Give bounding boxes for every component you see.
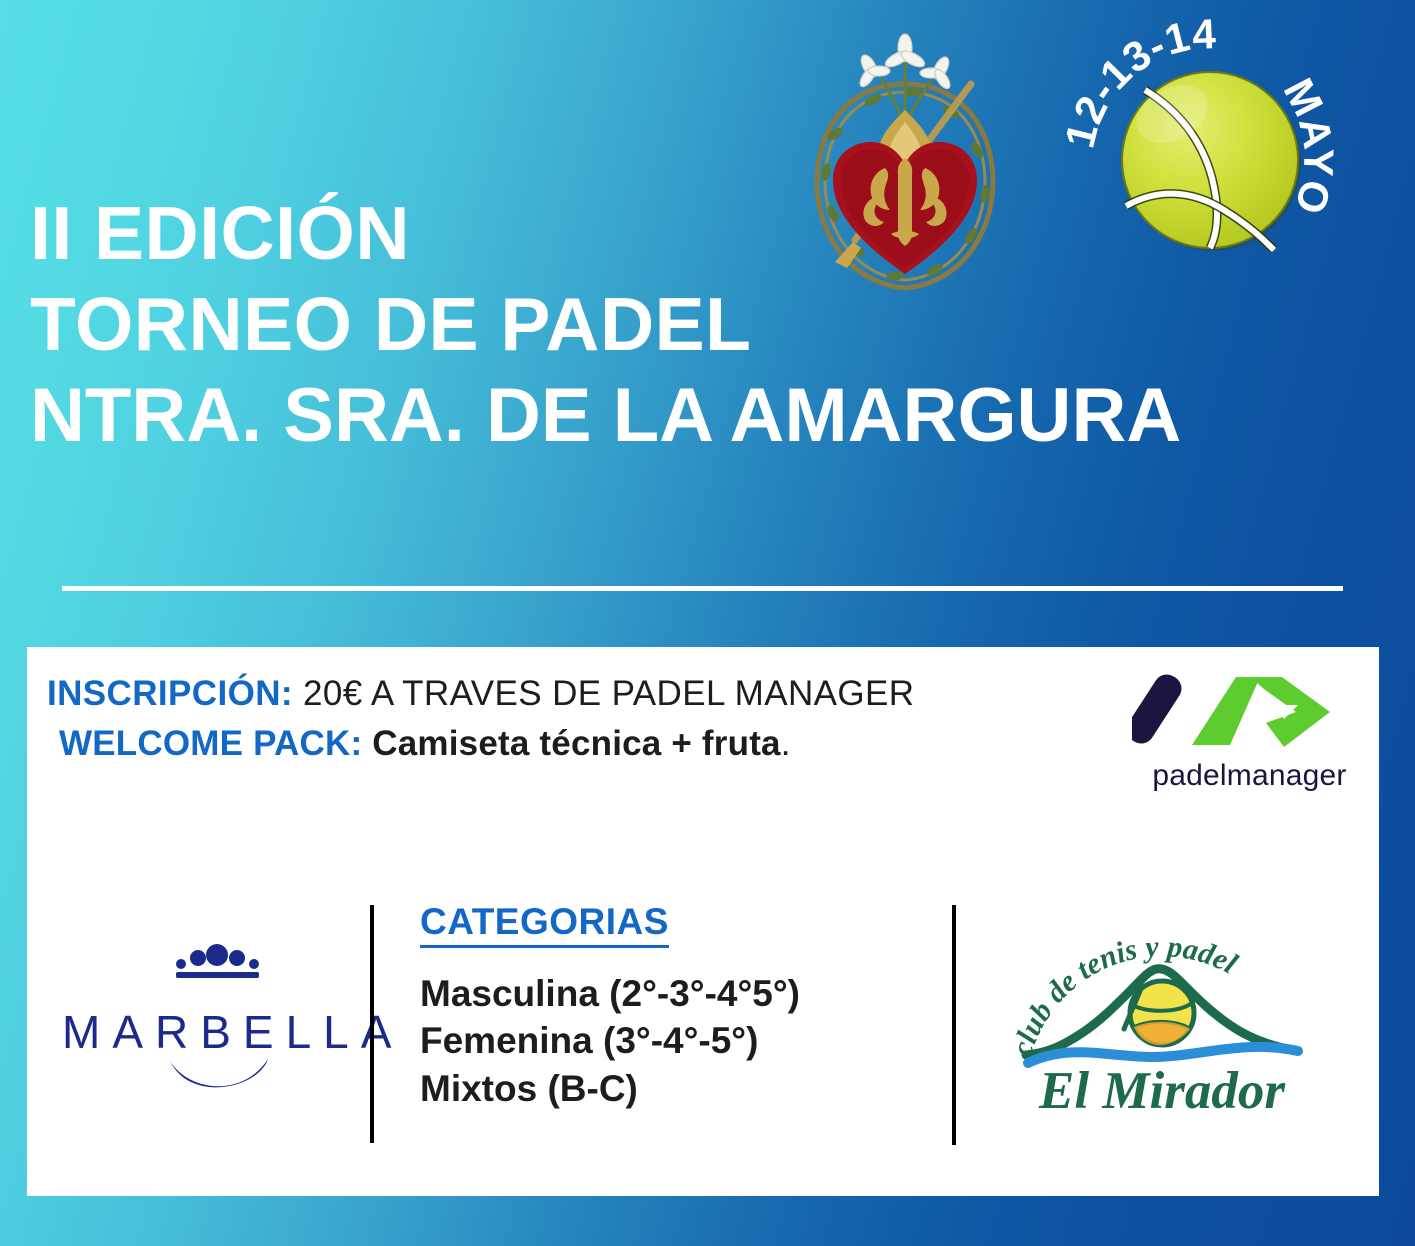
divider-right: [952, 905, 956, 1145]
registration-info: INSCRIPCIÓN: 20€ A TRAVES DE PADEL MANAG…: [47, 669, 1127, 768]
marbella-crown-logo-icon: [62, 942, 367, 1000]
title-line-1: II EDICIÓN: [30, 196, 1390, 271]
category-item-masculina: Masculina (2°-3°-4°5°): [420, 970, 940, 1017]
marbella-swoosh-icon: [62, 1055, 367, 1101]
title-line-3: NTRA. SRA. DE LA AMARGURA: [30, 378, 1390, 454]
welcome-pack-row: WELCOME PACK: Camiseta técnica + fruta.: [47, 719, 1127, 769]
padelmanager-logo: padelmanager: [1132, 665, 1367, 805]
categories-block: CATEGORIAS Masculina (2°-3°-4°5°) Femeni…: [420, 901, 940, 1112]
marbella-logo: MARBELLA: [62, 942, 367, 1092]
welcome-pack-label: WELCOME PACK:: [59, 724, 362, 763]
title-line-2: TORNEO DE PADEL: [30, 287, 1390, 362]
inscription-value: 20€ A TRAVES DE PADEL MANAGER: [303, 674, 914, 713]
categories-title: CATEGORIAS: [420, 901, 669, 948]
welcome-pack-period: .: [781, 724, 791, 763]
padelmanager-logo-icon: [1132, 665, 1362, 751]
title-divider: [62, 586, 1343, 591]
divider-left: [370, 905, 374, 1143]
category-item-femenina: Femenina (3°-4°-5°): [420, 1017, 940, 1064]
sponsors-and-categories: MARBELLA CATEGORIAS Masculina (2°-3°-4°5…: [27, 887, 1379, 1187]
mirador-wordmark: El Mirador: [1002, 1065, 1322, 1118]
info-panel: INSCRIPCIÓN: 20€ A TRAVES DE PADEL MANAG…: [27, 647, 1379, 1196]
tournament-poster: 12-13-14 MAYO II EDICIÓN TORNEO DE PADEL…: [0, 0, 1415, 1246]
welcome-pack-value: Camiseta técnica + fruta: [372, 724, 780, 763]
inscription-label: INSCRIPCIÓN:: [47, 674, 293, 713]
el-mirador-logo: club de tenis y padel El Mirador: [1002, 917, 1322, 1147]
poster-title: II EDICIÓN TORNEO DE PADEL NTRA. SRA. DE…: [30, 196, 1390, 454]
marbella-wordmark: MARBELLA: [62, 1009, 367, 1055]
padelmanager-wordmark: padelmanager: [1132, 759, 1367, 793]
category-item-mixtos: Mixtos (B-C): [420, 1065, 940, 1112]
inscription-row: INSCRIPCIÓN: 20€ A TRAVES DE PADEL MANAG…: [47, 669, 1127, 719]
